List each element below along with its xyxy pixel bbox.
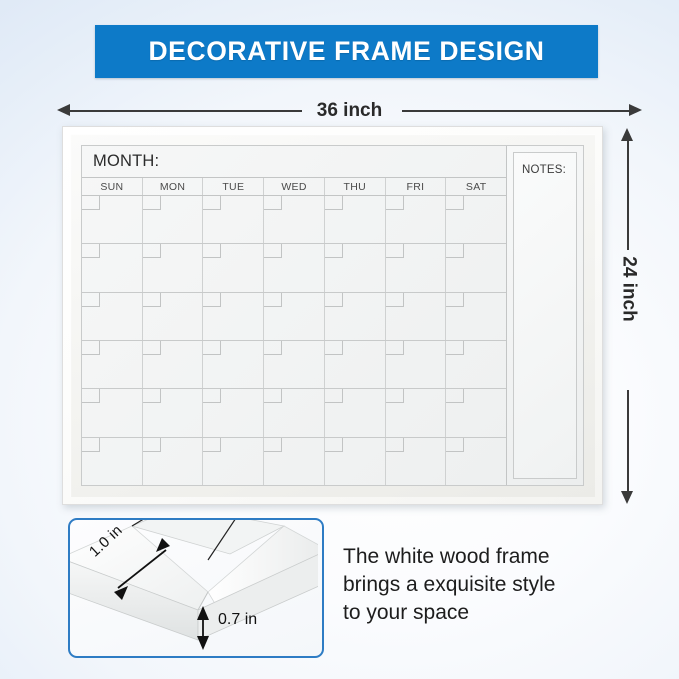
date-number-box [446,293,464,307]
date-number-box [325,389,343,403]
date-cell [325,438,386,485]
date-cell [203,196,264,243]
date-cell [143,293,204,340]
description-text: The white wood frame brings a exquisite … [343,543,643,627]
date-cell [203,244,264,291]
date-cell [325,244,386,291]
dimension-line-top [627,138,629,250]
date-number-box [82,341,100,355]
date-cell [82,293,143,340]
date-number-box [264,341,282,355]
description-line-1: The white wood frame [343,543,643,571]
date-number-box [446,341,464,355]
day-header-thu: THU [325,178,386,195]
date-cell [264,196,325,243]
day-header-row: SUNMONTUEWEDTHUFRISAT [82,178,506,196]
date-cell [325,389,386,436]
dimension-line-bottom [627,390,629,494]
week-row [82,438,506,485]
week-rows [82,196,506,485]
frame-corner-inset: 1.0 in 0.7 in [68,518,324,658]
date-number-box [264,293,282,307]
date-cell [386,438,447,485]
date-number-box [143,389,161,403]
date-cell [82,438,143,485]
date-cell [143,196,204,243]
date-number-box [446,389,464,403]
day-header-wed: WED [264,178,325,195]
width-dimension-label: 36 inch [57,96,642,126]
date-cell [325,196,386,243]
date-number-box [264,196,282,210]
date-number-box [264,438,282,452]
date-number-box [82,293,100,307]
date-number-box [143,293,161,307]
date-cell [82,196,143,243]
date-cell [446,341,506,388]
notes-section: NOTES: [507,146,583,485]
notes-panel: NOTES: [513,152,577,479]
day-header-tue: TUE [203,178,264,195]
height-dimension: 24 inch [612,128,644,504]
week-row [82,389,506,437]
date-number-box [82,438,100,452]
date-number-box [386,341,404,355]
notes-label: NOTES: [522,164,566,176]
date-number-box [203,438,221,452]
date-cell [386,341,447,388]
date-number-box [143,438,161,452]
date-number-box [325,244,343,258]
date-cell [264,389,325,436]
date-cell [386,389,447,436]
date-cell [203,341,264,388]
date-cell [82,341,143,388]
date-number-box [203,389,221,403]
date-cell [143,341,204,388]
date-cell [446,389,506,436]
day-header-sat: SAT [446,178,506,195]
height-dimension-label: 24 inch [618,242,640,337]
date-number-box [203,341,221,355]
date-number-box [325,196,343,210]
banner-title: DECORATIVE FRAME DESIGN [148,36,544,67]
date-number-box [203,196,221,210]
date-number-box [446,196,464,210]
date-number-box [264,244,282,258]
date-cell [82,389,143,436]
month-label: MONTH: [93,152,159,171]
date-number-box [203,293,221,307]
date-cell [264,438,325,485]
date-number-box [325,438,343,452]
date-number-box [446,244,464,258]
date-cell [203,293,264,340]
date-number-box [386,389,404,403]
header-banner: DECORATIVE FRAME DESIGN [95,25,598,78]
week-row [82,293,506,341]
date-cell [264,244,325,291]
date-cell [264,341,325,388]
date-number-box [325,293,343,307]
date-number-box [264,389,282,403]
day-header-fri: FRI [386,178,447,195]
date-cell [446,244,506,291]
month-row: MONTH: [82,146,506,178]
frame-depth-label: 0.7 in [218,611,257,629]
date-number-box [82,389,100,403]
week-row [82,196,506,244]
date-cell [446,196,506,243]
date-cell [143,389,204,436]
arrow-down-icon [621,491,633,504]
board-surface: MONTH: SUNMONTUEWEDTHUFRISAT NOTES: [81,145,584,486]
week-row [82,341,506,389]
description-line-3: to your space [343,599,643,627]
date-number-box [203,244,221,258]
date-number-box [82,244,100,258]
date-number-box [446,438,464,452]
date-cell [325,341,386,388]
date-number-box [143,341,161,355]
date-number-box [386,244,404,258]
calendar-grid: MONTH: SUNMONTUEWEDTHUFRISAT [82,146,507,485]
width-dimension: 36 inch [57,96,642,126]
date-cell [143,244,204,291]
date-number-box [386,293,404,307]
description-line-2: brings a exquisite style [343,571,643,599]
date-number-box [386,196,404,210]
date-cell [386,293,447,340]
infographic-canvas: DECORATIVE FRAME DESIGN 36 inch 24 inch … [0,0,679,679]
date-number-box [386,438,404,452]
date-cell [143,438,204,485]
date-cell [386,244,447,291]
day-header-mon: MON [143,178,204,195]
date-number-box [82,196,100,210]
date-cell [203,438,264,485]
date-cell [446,293,506,340]
date-cell [203,389,264,436]
date-number-box [143,196,161,210]
day-header-sun: SUN [82,178,143,195]
date-cell [386,196,447,243]
date-number-box [143,244,161,258]
date-cell [264,293,325,340]
date-number-box [325,341,343,355]
calendar-whiteboard: MONTH: SUNMONTUEWEDTHUFRISAT NOTES: [62,126,603,505]
date-cell [82,244,143,291]
date-cell [446,438,506,485]
date-cell [325,293,386,340]
week-row [82,244,506,292]
